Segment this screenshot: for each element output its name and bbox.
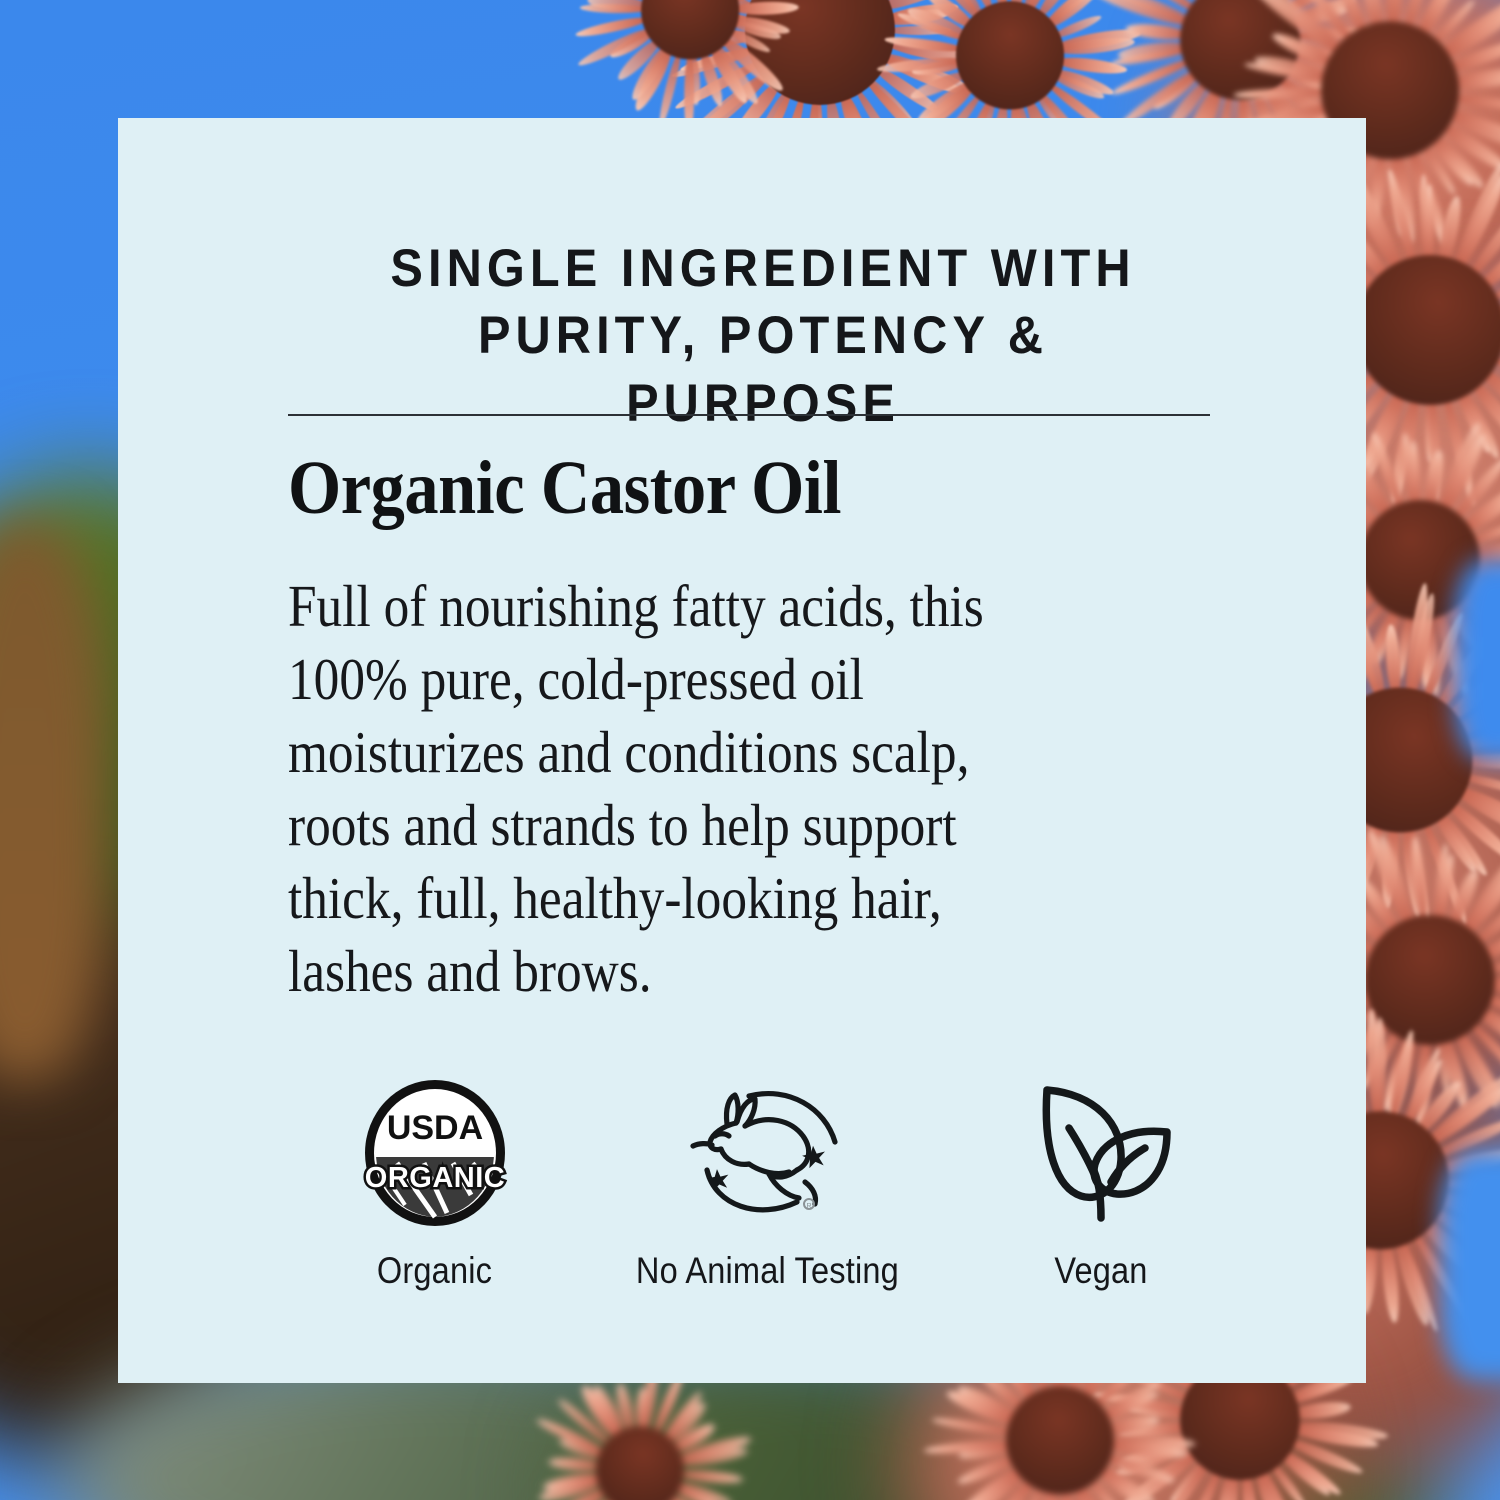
headline-divider [288, 414, 1210, 416]
leaping-bunny-icon: R [685, 1078, 851, 1228]
svg-text:USDA: USDA [386, 1109, 482, 1147]
badge-label-vegan: Vegan [1054, 1250, 1147, 1292]
sky-gap [1440, 1150, 1500, 1380]
badge-label-no-animal-testing: No Animal Testing [636, 1250, 899, 1292]
product-description: Full of nourishing fatty acids, this 100… [288, 570, 1158, 1008]
certification-badge-row: USDA ORGANIC Organic [268, 1078, 1268, 1292]
sky-gap [1455, 560, 1500, 760]
info-panel: SINGLE INGREDIENT WITH PURITY, POTENCY &… [118, 118, 1366, 1383]
badge-organic: USDA ORGANIC Organic [268, 1078, 601, 1292]
leaf-sprout-icon [1025, 1078, 1177, 1228]
product-title: Organic Castor Oil [288, 450, 841, 526]
usda-organic-seal-icon: USDA ORGANIC [361, 1078, 509, 1228]
badge-vegan: Vegan [934, 1078, 1267, 1292]
foliage-blob [0, 520, 110, 1080]
badge-no-animal-testing: R No Animal Testing [601, 1078, 934, 1292]
product-info-graphic: SINGLE INGREDIENT WITH PURITY, POTENCY &… [0, 0, 1500, 1500]
badge-label-organic: Organic [377, 1250, 492, 1292]
svg-text:R: R [806, 1203, 811, 1210]
panel-headline: SINGLE INGREDIENT WITH PURITY, POTENCY &… [335, 235, 1191, 437]
svg-text:ORGANIC: ORGANIC [364, 1162, 504, 1194]
